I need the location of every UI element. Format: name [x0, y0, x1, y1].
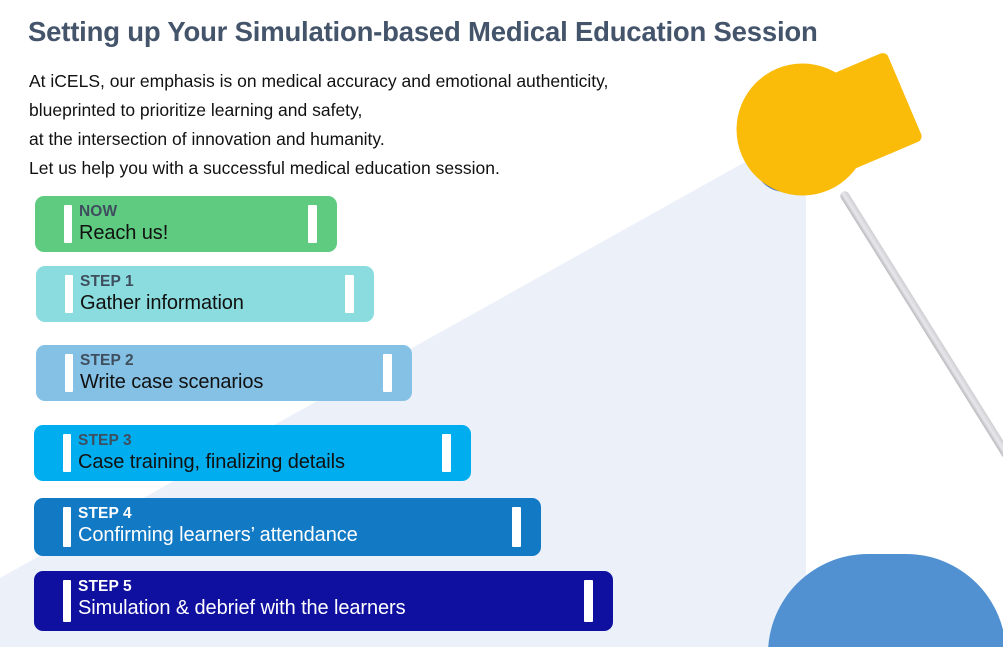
step-label: STEP 5 [78, 577, 405, 596]
intro-paragraph: At iCELS, our emphasis is on medical acc… [29, 67, 608, 183]
desk-lamp-icon [730, 30, 1003, 647]
bar-right-tick-icon [584, 580, 593, 622]
intro-line-4: Let us help you with a successful medica… [29, 154, 608, 183]
step-description: Gather information [80, 291, 244, 316]
bar-right-tick-icon [383, 354, 392, 392]
step-description: Reach us! [79, 221, 168, 246]
bar-left-tick-icon [63, 507, 71, 547]
step-bar-text: STEP 3Case training, finalizing details [78, 431, 345, 475]
bar-left-tick-icon [63, 580, 71, 622]
step-bar[interactable]: STEP 2Write case scenarios [36, 345, 412, 401]
step-label: STEP 4 [78, 504, 358, 523]
step-label: STEP 1 [80, 272, 244, 291]
bar-left-tick-icon [65, 275, 73, 313]
bar-right-tick-icon [512, 507, 521, 547]
bar-left-tick-icon [64, 205, 72, 243]
intro-line-3: at the intersection of innovation and hu… [29, 125, 608, 154]
slide-canvas: Setting up Your Simulation-based Medical… [0, 0, 1003, 647]
step-bar[interactable]: STEP 3Case training, finalizing details [34, 425, 471, 481]
step-label: STEP 3 [78, 431, 345, 450]
blue-circle-icon [754, 130, 816, 192]
bar-left-tick-icon [63, 434, 71, 472]
bar-right-tick-icon [442, 434, 451, 472]
intro-line-1: At iCELS, our emphasis is on medical acc… [29, 67, 608, 96]
step-bar-text: STEP 4Confirming learners’ attendance [78, 504, 358, 548]
lamp-rod-icon [839, 190, 1003, 559]
bar-right-tick-icon [345, 275, 354, 313]
half-dome-icon [768, 554, 1003, 647]
step-description: Write case scenarios [80, 370, 263, 395]
lamp-shade-icon [717, 44, 889, 216]
page-title: Setting up Your Simulation-based Medical… [28, 16, 818, 48]
step-bar-text: STEP 1Gather information [80, 272, 244, 316]
step-bar-text: STEP 2Write case scenarios [80, 351, 263, 395]
bar-right-tick-icon [308, 205, 317, 243]
step-bar[interactable]: STEP 1Gather information [36, 266, 374, 322]
intro-line-2: blueprinted to prioritize learning and s… [29, 96, 608, 125]
step-bar[interactable]: STEP 4Confirming learners’ attendance [34, 498, 541, 556]
bar-left-tick-icon [65, 354, 73, 392]
step-bar[interactable]: NOWReach us! [35, 196, 337, 252]
step-description: Confirming learners’ attendance [78, 523, 358, 548]
step-label: STEP 2 [80, 351, 263, 370]
step-label: NOW [79, 202, 168, 221]
step-bar[interactable]: STEP 5Simulation & debrief with the lear… [34, 571, 613, 631]
lamp-neck-icon [798, 51, 924, 177]
step-description: Simulation & debrief with the learners [78, 596, 405, 621]
step-bar-text: STEP 5Simulation & debrief with the lear… [78, 577, 405, 621]
step-description: Case training, finalizing details [78, 450, 345, 475]
step-bar-text: NOWReach us! [79, 202, 168, 246]
